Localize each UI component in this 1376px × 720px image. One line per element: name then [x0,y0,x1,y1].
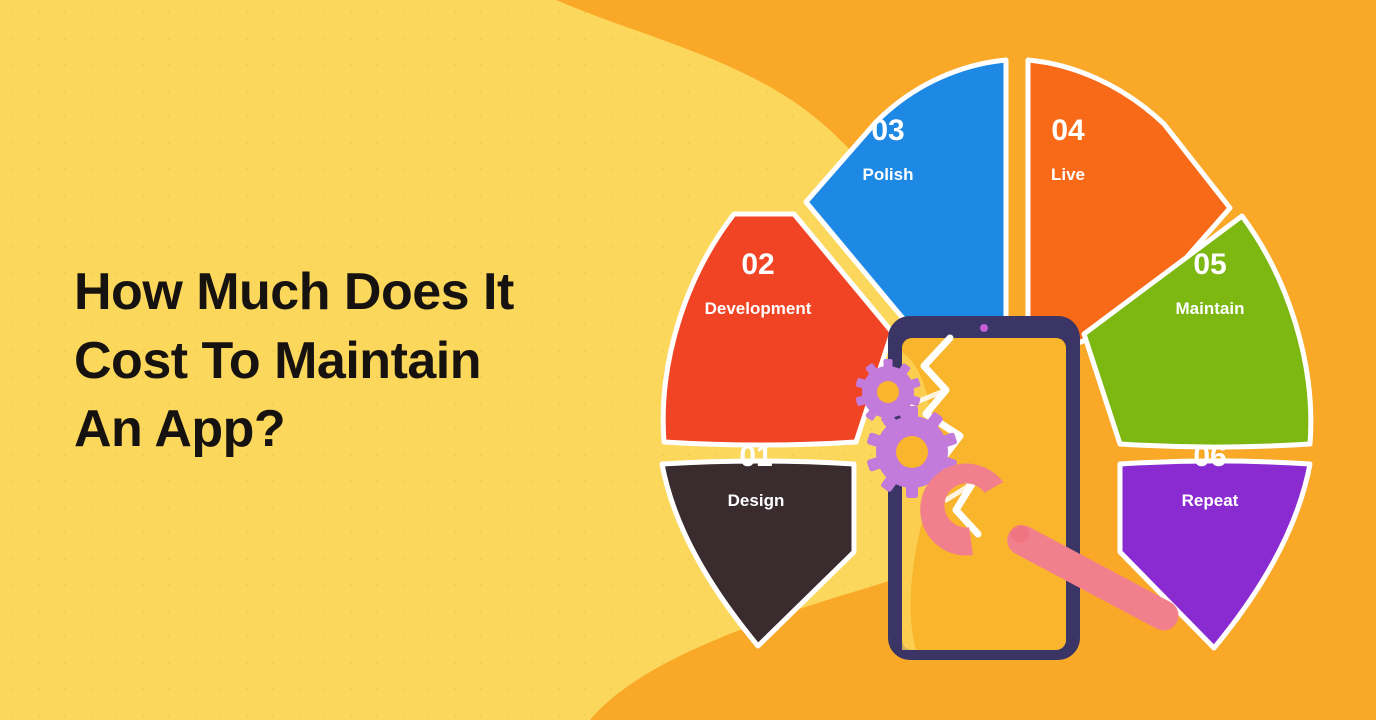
page-title: How Much Does It Cost To Maintain An App… [74,258,604,464]
segment-label: Live [1051,165,1085,184]
segment-label: Development [705,299,812,318]
segment-number: 04 [1051,114,1085,147]
phone-camera-dot [980,324,988,332]
headline-line-1: How Much Does It [74,258,604,327]
segment-label: Maintain [1176,299,1245,318]
segment-number: 05 [1193,248,1226,281]
segment-label: Design [728,491,785,510]
headline-line-2: Cost To Maintain [74,327,604,396]
segment-number: 01 [739,440,772,473]
segment-number: 02 [741,248,774,281]
headline-line-3: An App? [74,395,604,464]
segment-number: 06 [1193,440,1226,473]
segment-label: Polish [862,165,913,184]
infographic-canvas: How Much Does It Cost To Maintain An App… [0,0,1376,720]
lifecycle-wheel: 03 Polish 04 Live 02 Development 05 Main… [616,22,1356,662]
wheel-segment-01[interactable]: 01 Design [662,440,854,646]
segment-label: Repeat [1182,491,1239,510]
segment-number: 03 [871,114,904,147]
